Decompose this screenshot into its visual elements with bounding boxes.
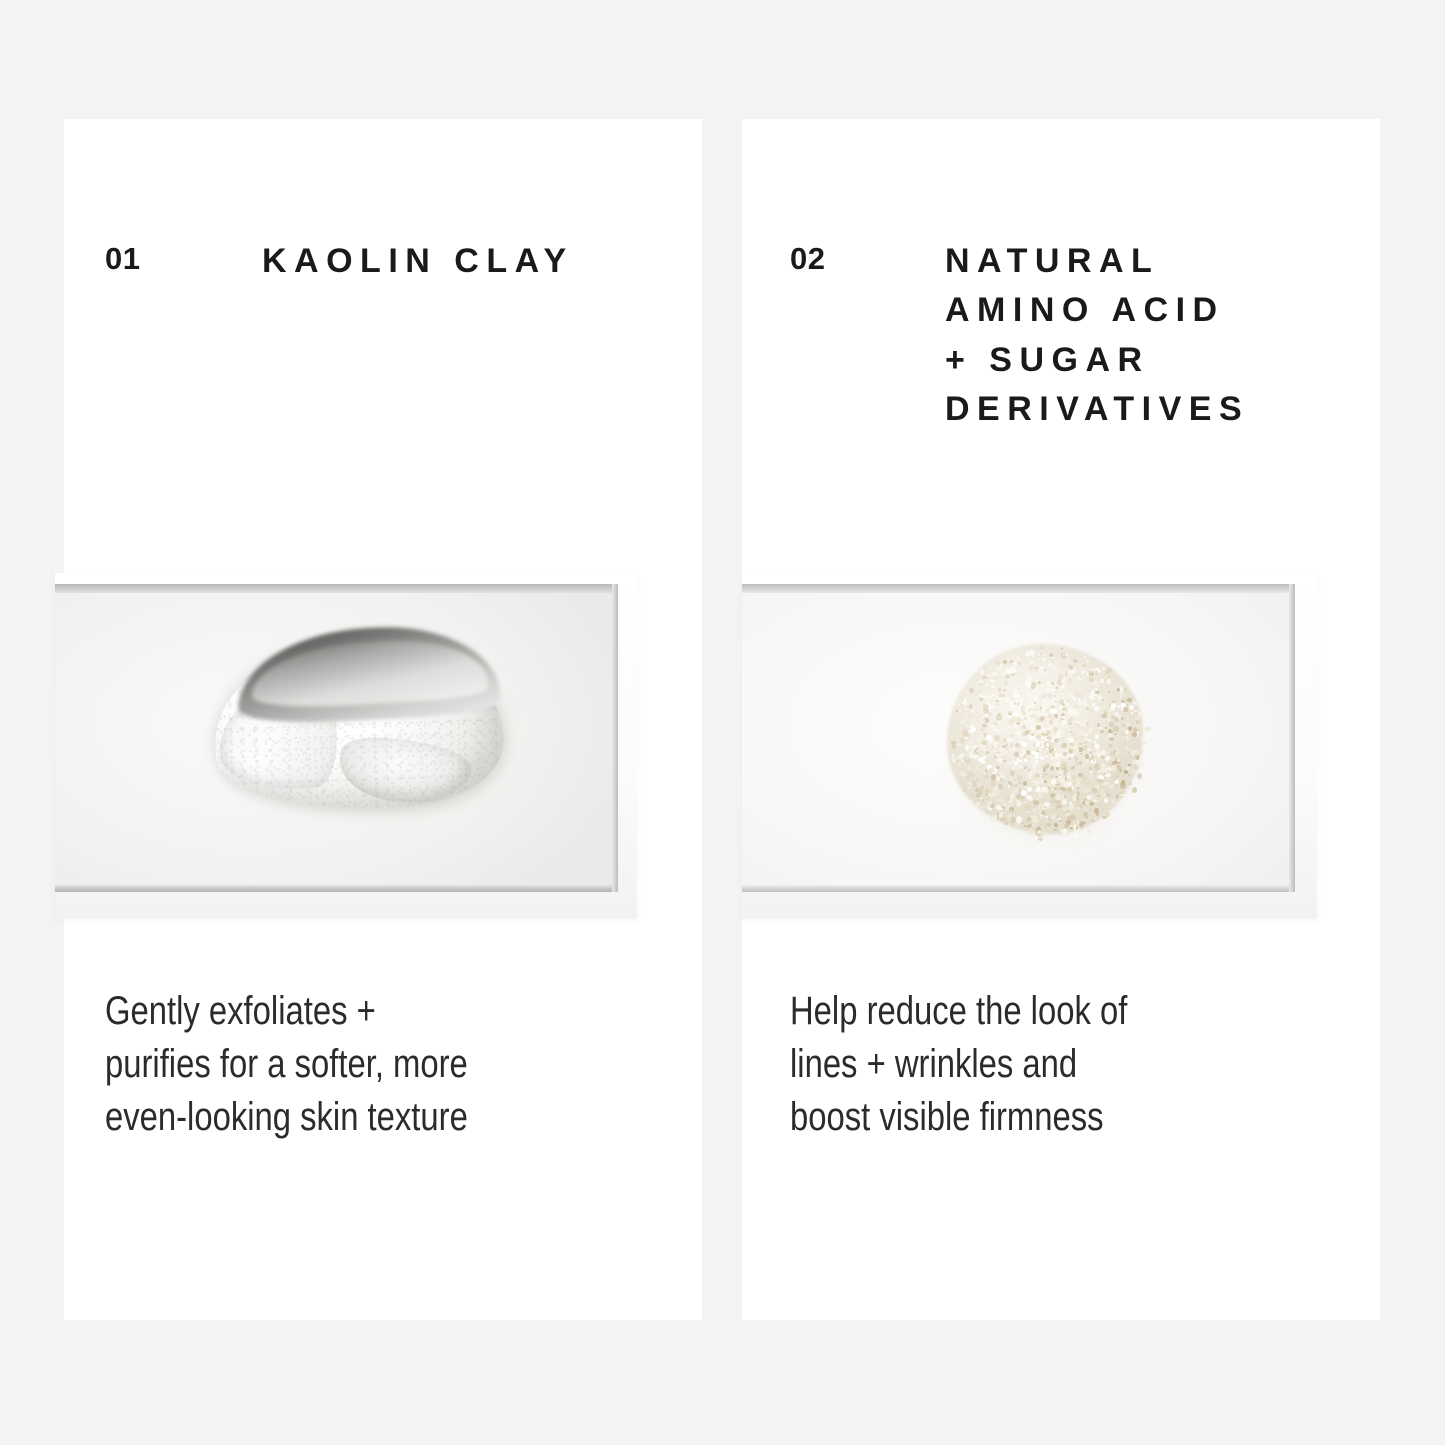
slab-edge-bottom-02	[742, 885, 1295, 892]
ingredient-title-02: NATURAL AMINO ACID + SUGAR DERIVATIVES	[945, 237, 1249, 434]
card-header-01: 01 KAOLIN CLAY	[64, 119, 702, 573]
ingredient-card-02: 02 NATURAL AMINO ACID + SUGAR DERIVATIVE…	[742, 119, 1380, 1320]
slab-edge-bottom-01	[55, 885, 618, 892]
slab-edge-right-01	[612, 584, 618, 892]
ingredient-description-01: Gently exfoliates + purifies for a softe…	[105, 985, 679, 1145]
ingredient-title-01: KAOLIN CLAY	[262, 237, 574, 286]
powder-grain-layer	[937, 632, 1149, 848]
step-number-02: 02	[790, 243, 825, 274]
acrylic-slab-02	[742, 584, 1295, 892]
slab-edge-top-01	[55, 584, 618, 593]
slab-edge-top-02	[742, 584, 1295, 593]
kaolin-clay-swatch	[207, 628, 515, 813]
step-number-01: 01	[105, 243, 140, 274]
ingredient-description-02: Help reduce the look of lines + wrinkles…	[790, 985, 1364, 1145]
acrylic-slab-01	[55, 584, 618, 892]
slab-edge-right-02	[1289, 584, 1295, 892]
card-header-02: 02 NATURAL AMINO ACID + SUGAR DERIVATIVE…	[742, 119, 1380, 573]
ingredient-cards-stage: 01 KAOLIN CLAY Gentl	[0, 0, 1445, 1445]
amino-acid-sugar-powder	[937, 632, 1149, 848]
ingredient-card-01: 01 KAOLIN CLAY Gentl	[64, 119, 702, 1320]
